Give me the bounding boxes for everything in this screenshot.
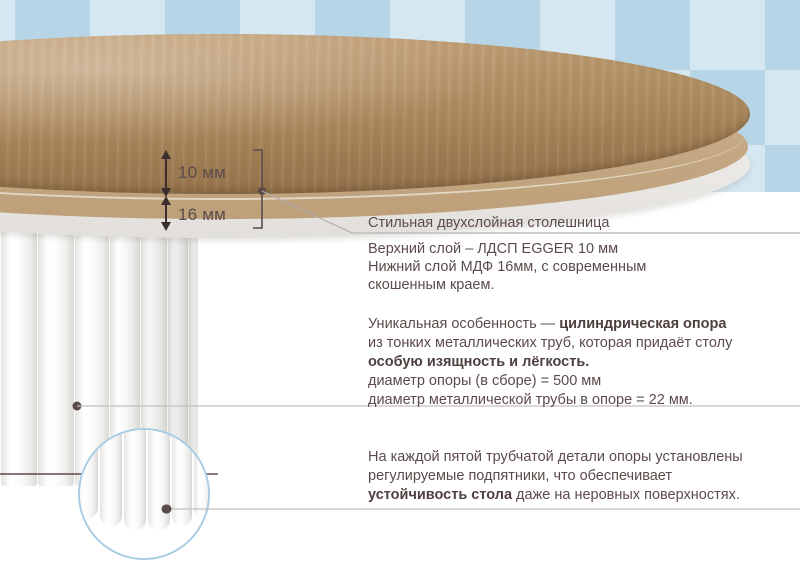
infographic-canvas: 10 мм 16 мм Стильная двухслойная столешн… [0, 0, 800, 566]
callout-support-line-1: Уникальная особенность — цилиндрическая … [368, 315, 726, 334]
callout-feet-line-1: На каждой пятой трубчатой детали опоры у… [368, 448, 743, 467]
magnified-tube [148, 428, 170, 530]
magnified-tube [78, 428, 98, 518]
callout-support-line-5: диаметр металлической трубы в опоре = 22… [368, 391, 693, 410]
callout-feet-line-3-plain: даже на неровных поверхностях. [512, 487, 740, 503]
tabletop [0, 34, 750, 224]
callout-support-line-2: из тонких металлических труб, которая пр… [368, 334, 732, 353]
callout-feet-line-3: устойчивость стола даже на неровных пове… [368, 486, 740, 505]
callout-tabletop-line-2: Нижний слой МДФ 16мм, с современным [368, 258, 646, 277]
detail-magnifier-circle [78, 428, 210, 560]
magnified-tube [100, 428, 122, 526]
callout-tabletop-line-1: Верхний слой – ЛДСП EGGER 10 мм [368, 240, 618, 259]
pedestal-tube [38, 196, 74, 486]
dimension-label-top-layer: 10 мм [178, 163, 226, 183]
magnified-tube [124, 428, 146, 530]
callout-tabletop-heading: Стильная двухслойная столешница [368, 214, 609, 233]
callout-support-line-3-bold: особую изящность и лёгкость. [368, 354, 589, 370]
callout-support-line-3: особую изящность и лёгкость. [368, 353, 589, 372]
pedestal-tube [1, 196, 37, 486]
magnified-tube [172, 428, 192, 526]
callout-tabletop-line-3: скошенным краем. [368, 276, 495, 295]
magnified-tube [194, 428, 210, 518]
callout-feet-line-3-bold: устойчивость стола [368, 487, 512, 503]
callout-support-line-1-bold: цилиндрическая опора [559, 316, 726, 332]
dimension-label-bottom-layer: 16 мм [178, 205, 226, 225]
callout-support-line-1-plain: Уникальная особенность — [368, 316, 559, 332]
callout-feet-line-2: регулируемые подпятники, что обеспечивае… [368, 467, 672, 486]
callout-support-line-4: диаметр опоры (в сборе) = 500 мм [368, 372, 601, 391]
magnified-tubes [78, 428, 210, 534]
